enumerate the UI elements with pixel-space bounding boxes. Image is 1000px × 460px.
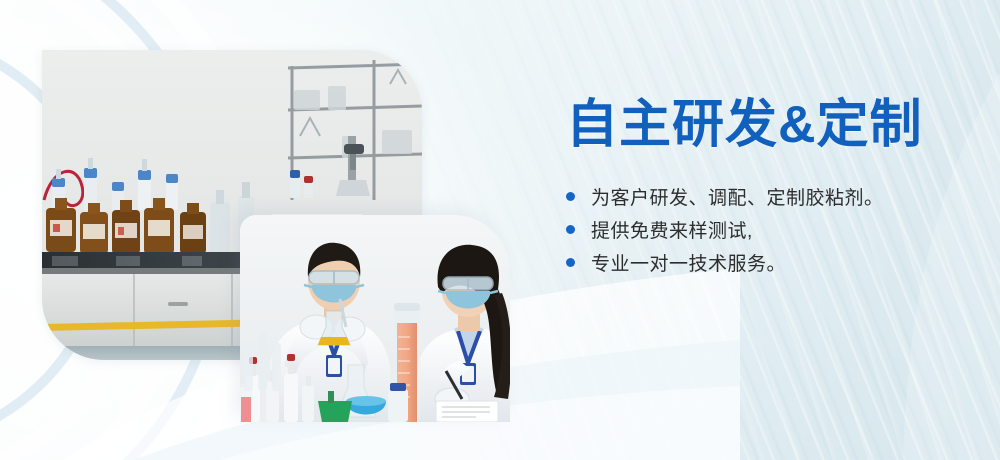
list-item: 专业一对一技术服务。 <box>566 246 966 279</box>
bullet-dot-icon <box>566 258 575 267</box>
page-title: 自主研发&定制 <box>566 94 966 156</box>
promo-banner: 自主研发&定制 为客户研发、调配、定制胶粘剂。 提供免费来样测试, 专业一对一技… <box>0 0 1000 460</box>
list-item: 提供免费来样测试, <box>566 213 966 246</box>
list-item: 为客户研发、调配、定制胶粘剂。 <box>566 180 966 213</box>
technicians-testing-photo <box>240 215 510 422</box>
bullet-text: 专业一对一技术服务。 <box>591 249 786 276</box>
bullet-text: 为客户研发、调配、定制胶粘剂。 <box>591 183 884 210</box>
bullet-dot-icon <box>566 192 575 201</box>
feature-bullet-list: 为客户研发、调配、定制胶粘剂。 提供免费来样测试, 专业一对一技术服务。 <box>566 180 966 279</box>
bullet-dot-icon <box>566 225 575 234</box>
bullet-text: 提供免费来样测试, <box>591 216 753 243</box>
banner-text-column: 自主研发&定制 为客户研发、调配、定制胶粘剂。 提供免费来样测试, 专业一对一技… <box>566 94 966 279</box>
